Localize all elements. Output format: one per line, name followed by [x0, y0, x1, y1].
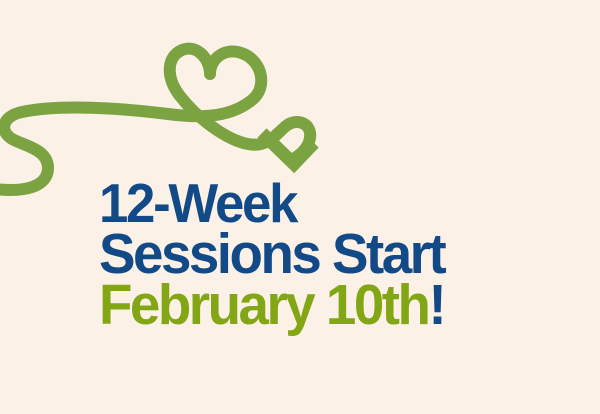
- headline-line-3: February 10th!: [99, 280, 550, 331]
- arrowhead-icon: [262, 133, 314, 164]
- swirl-path: [0, 49, 310, 190]
- headline-line-3-text: February 10th: [99, 273, 428, 337]
- headline-block: 12-Week Sessions Start February 10th!: [99, 178, 569, 331]
- headline-exclamation: !: [428, 273, 444, 337]
- promo-poster: 12-Week Sessions Start February 10th!: [0, 0, 600, 414]
